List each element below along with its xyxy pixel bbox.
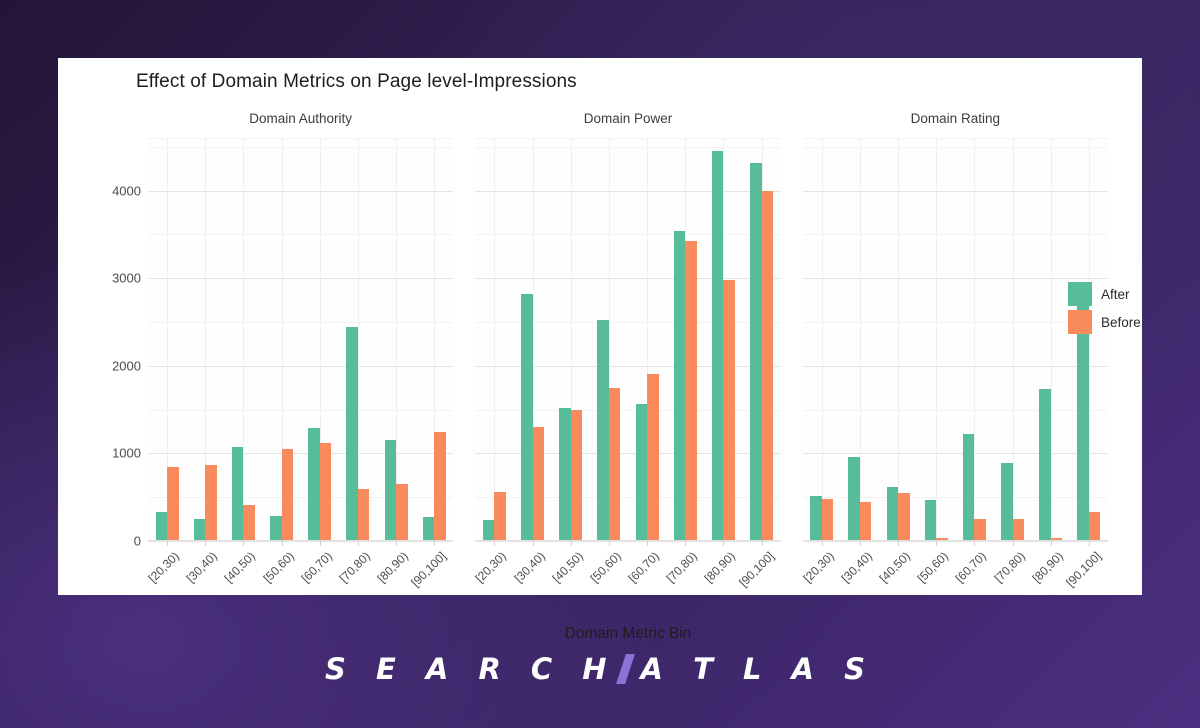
x-axis-tick-label: [30,40) (838, 549, 874, 585)
x-axis-tick-mark (167, 541, 168, 546)
x-axis-tick-label: [50,60) (587, 549, 623, 585)
brand-word-atlas: A T L A S (641, 652, 875, 686)
gridline-minor (148, 138, 453, 139)
x-axis-tick-mark (647, 541, 648, 546)
gridline (803, 278, 1108, 279)
bar-before (205, 465, 216, 541)
bar-before (243, 505, 254, 541)
x-axis-tick-mark (723, 541, 724, 546)
gridline-minor (475, 147, 780, 148)
gridline (803, 366, 1108, 367)
legend-label: After (1101, 287, 1130, 302)
chart-panel: [20,30)[30,40)[40,50)[50,60)[60,70)[70,8… (803, 138, 1108, 541)
x-axis-tick-mark (974, 541, 975, 546)
x-axis-title: Domain Metric Bin (148, 625, 1108, 643)
x-axis-tick-mark (320, 541, 321, 546)
bar-before (1013, 519, 1024, 541)
x-axis-tick-label: [50,60) (260, 549, 296, 585)
x-axis-tick-mark (860, 541, 861, 546)
gridline-vertical (860, 138, 861, 541)
legend-item[interactable]: After (1068, 280, 1188, 308)
gridline-vertical (898, 138, 899, 541)
bar-after (887, 487, 898, 541)
x-axis-tick-label: [90,100] (1063, 549, 1104, 590)
plot-area: Model Coefficient (Effect Size) Domain M… (148, 138, 1108, 563)
bar-after (270, 516, 281, 541)
x-axis-tick-mark (898, 541, 899, 546)
x-axis-tick-label: [90,100] (409, 549, 450, 590)
x-axis-tick-label: [40,50) (877, 549, 913, 585)
x-axis-tick-label: [40,50) (222, 549, 258, 585)
bar-after (308, 428, 319, 541)
gridline-vertical (1013, 138, 1014, 541)
bar-before (974, 519, 985, 541)
gridline (803, 191, 1108, 192)
gridline (148, 278, 453, 279)
gridline-vertical (1089, 138, 1090, 541)
y-axis-tick-label: 2000 (112, 358, 141, 373)
bar-after (810, 496, 821, 541)
bar-after (597, 320, 608, 541)
gridline (475, 541, 780, 542)
x-axis-tick-mark (685, 541, 686, 546)
x-axis-tick-mark (358, 541, 359, 546)
bar-after (712, 151, 723, 541)
legend-swatch-icon (1068, 310, 1092, 334)
brand-logo: S E A R C H A T L A S (0, 652, 1200, 686)
bar-after (848, 457, 859, 541)
bar-after (1001, 463, 1012, 541)
x-axis-tick-mark (1089, 541, 1090, 546)
gridline-minor (803, 138, 1108, 139)
bar-after (156, 512, 167, 541)
x-axis-tick-mark (609, 541, 610, 546)
y-axis-tick-label: 0 (134, 534, 141, 549)
gridline-minor (148, 497, 453, 498)
x-axis-tick-mark (494, 541, 495, 546)
x-axis-tick-label: [40,50) (549, 549, 585, 585)
y-axis-tick-label: 4000 (112, 183, 141, 198)
gridline-vertical (822, 138, 823, 541)
chart-panel: [20,30)[30,40)[40,50)[50,60)[60,70)[70,8… (148, 138, 453, 541)
bar-after (194, 519, 205, 541)
legend-item[interactable]: Before (1068, 308, 1188, 336)
bar-before (822, 499, 833, 541)
x-axis-tick-mark (282, 541, 283, 546)
x-axis-tick-mark (533, 541, 534, 546)
bar-before (685, 241, 696, 541)
x-axis-tick-label: [20,30) (473, 549, 509, 585)
x-axis-tick-mark (936, 541, 937, 546)
chart-panel: [20,30)[30,40)[40,50)[50,60)[60,70)[70,8… (475, 138, 780, 541)
x-axis-tick-mark (434, 541, 435, 546)
bar-after (750, 163, 761, 541)
x-axis-tick-label: [50,60) (915, 549, 951, 585)
gridline (148, 453, 453, 454)
x-axis-tick-label: [30,40) (184, 549, 220, 585)
y-axis-tick-label: 1000 (112, 446, 141, 461)
chart-legend: AfterBefore (1068, 280, 1188, 336)
facet-label-domain-rating: Domain Rating (803, 111, 1108, 129)
gridline (148, 366, 453, 367)
bar-after (232, 447, 243, 541)
x-axis-tick-mark (1013, 541, 1014, 546)
gridline-vertical (1051, 138, 1052, 541)
x-axis-tick-label: [80,90) (702, 549, 738, 585)
x-axis-tick-mark (205, 541, 206, 546)
bar-after (674, 231, 685, 541)
x-axis-tick-label: [60,70) (953, 549, 989, 585)
brand-word-search: S E A R C H (325, 652, 617, 686)
x-axis-tick-label: [30,40) (511, 549, 547, 585)
gridline-minor (475, 234, 780, 235)
gridline-minor (148, 410, 453, 411)
gridline (475, 278, 780, 279)
x-axis-tick-mark (822, 541, 823, 546)
gridline-minor (148, 322, 453, 323)
bar-before (898, 493, 909, 541)
legend-label: Before (1101, 315, 1141, 330)
x-axis-tick-mark (571, 541, 572, 546)
gridline-minor (148, 234, 453, 235)
bar-before (1089, 512, 1100, 541)
gridline (148, 191, 453, 192)
gridline-vertical (358, 138, 359, 541)
bar-before (282, 449, 293, 541)
gridline-vertical (243, 138, 244, 541)
facet-label-domain-power: Domain Power (475, 111, 780, 129)
bar-before (494, 492, 505, 541)
bar-after (559, 408, 570, 541)
bar-before (167, 467, 178, 541)
gridline-minor (148, 147, 453, 148)
facet-label-domain-authority: Domain Authority (148, 111, 453, 129)
gridline (803, 453, 1108, 454)
gridline-vertical (494, 138, 495, 541)
gridline-vertical (936, 138, 937, 541)
chart-title: Effect of Domain Metrics on Page level-I… (136, 71, 577, 93)
x-axis-tick-mark (243, 541, 244, 546)
bar-before (609, 388, 620, 541)
x-axis-tick-label: [60,70) (626, 549, 662, 585)
x-axis-tick-mark (762, 541, 763, 546)
gridline (148, 541, 453, 542)
gridline-vertical (396, 138, 397, 541)
axis-baseline (475, 540, 780, 541)
bar-after (423, 517, 434, 541)
x-axis-tick-mark (1051, 541, 1052, 546)
x-axis-tick-label: [80,90) (1029, 549, 1065, 585)
screenshot-root: Effect of Domain Metrics on Page level-I… (0, 0, 1200, 728)
bar-before (533, 427, 544, 541)
bar-before (647, 374, 658, 541)
gridline-minor (475, 138, 780, 139)
x-axis-tick-label: [60,70) (298, 549, 334, 585)
chart-card: Effect of Domain Metrics on Page level-I… (58, 58, 1142, 595)
bar-before (396, 484, 407, 541)
slash-icon (616, 654, 635, 684)
gridline-minor (803, 410, 1108, 411)
gridline (475, 191, 780, 192)
x-axis-tick-label: [70,80) (664, 549, 700, 585)
legend-swatch-icon (1068, 282, 1092, 306)
axis-baseline (148, 540, 453, 541)
bar-after (346, 327, 357, 541)
gridline-minor (803, 322, 1108, 323)
bar-before (320, 443, 331, 541)
x-axis-tick-mark (396, 541, 397, 546)
x-axis-tick-label: [90,100] (736, 549, 777, 590)
bar-before (434, 432, 445, 542)
gridline-vertical (974, 138, 975, 541)
x-axis-tick-label: [80,90) (375, 549, 411, 585)
x-axis-tick-label: [70,80) (336, 549, 372, 585)
x-axis-tick-label: [20,30) (800, 549, 836, 585)
bar-after (925, 500, 936, 541)
bar-before (762, 191, 773, 541)
bar-after (963, 434, 974, 541)
bar-before (571, 410, 582, 541)
gridline-minor (803, 234, 1108, 235)
x-axis-tick-label: [20,30) (146, 549, 182, 585)
axis-baseline (803, 540, 1108, 541)
gridline-minor (803, 147, 1108, 148)
y-axis-tick-label: 3000 (112, 271, 141, 286)
bar-after (385, 440, 396, 541)
bar-after (521, 294, 532, 541)
x-axis-tick-label: [70,80) (991, 549, 1027, 585)
bar-before (860, 502, 871, 541)
gridline (803, 541, 1108, 542)
bar-after (1039, 389, 1050, 541)
bar-before (723, 280, 734, 541)
bar-after (636, 404, 647, 541)
bar-before (358, 489, 369, 541)
bar-after (483, 520, 494, 541)
